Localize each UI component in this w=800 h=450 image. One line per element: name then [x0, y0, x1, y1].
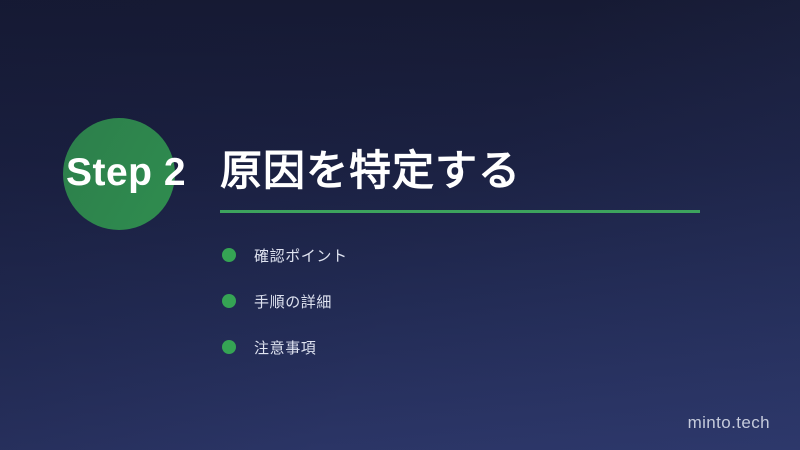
- bullet-dot-icon: [222, 340, 236, 354]
- list-item: 手順の詳細: [222, 278, 348, 324]
- slide-title: 原因を特定する: [220, 145, 521, 197]
- list-item: 注意事項: [222, 324, 348, 370]
- bullet-dot-icon: [222, 294, 236, 308]
- bullet-list: 確認ポイント 手順の詳細 注意事項: [222, 232, 348, 370]
- title-divider: [220, 210, 700, 213]
- bullet-item-label: 確認ポイント: [254, 245, 348, 266]
- bullet-dot-icon: [222, 248, 236, 262]
- step-badge-label: Step 2: [46, 152, 206, 194]
- slide-canvas: Step 2 原因を特定する 確認ポイント 手順の詳細 注意事項 minto.t…: [0, 0, 800, 450]
- list-item: 確認ポイント: [222, 232, 348, 278]
- footer-watermark: minto.tech: [688, 413, 770, 433]
- bullet-item-label: 注意事項: [254, 337, 316, 358]
- bullet-item-label: 手順の詳細: [254, 291, 332, 312]
